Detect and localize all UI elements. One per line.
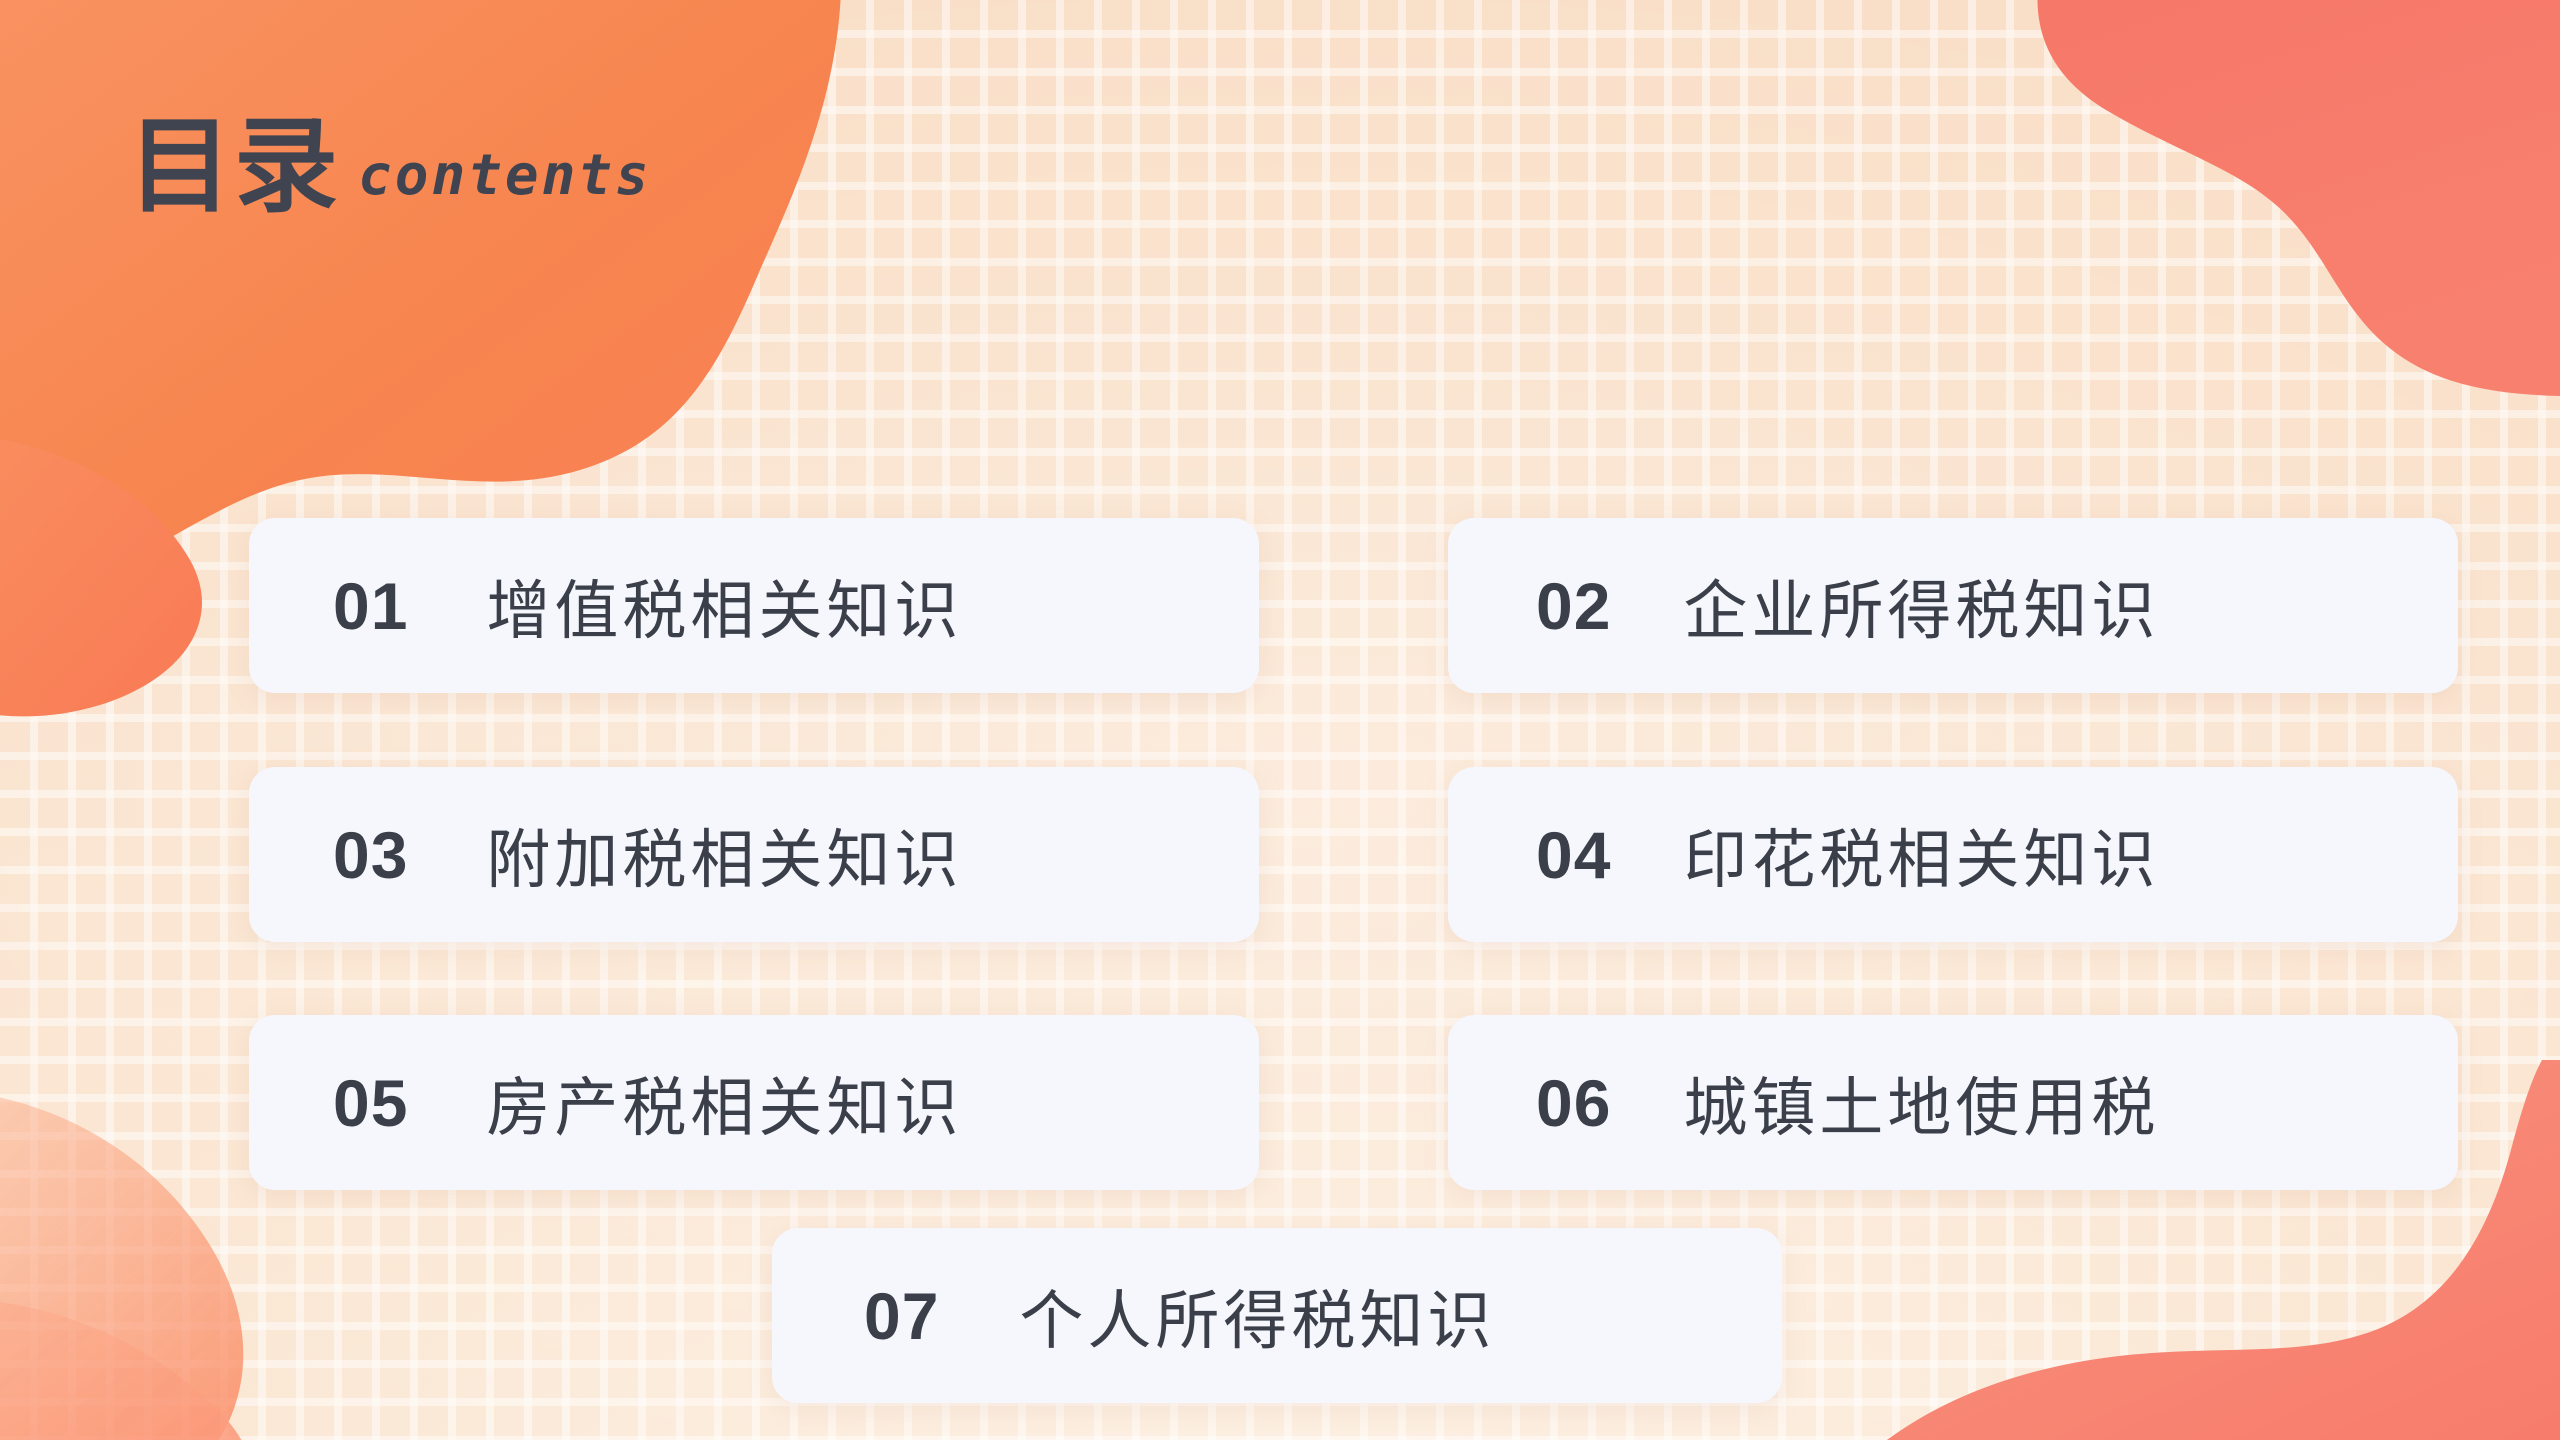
contents-item-label: 城镇土地使用税 xyxy=(1683,1057,2159,1149)
contents-item-label: 印花税相关知识 xyxy=(1683,809,2159,901)
contents-item-01[interactable]: 01 增值税相关知识 xyxy=(249,518,1259,693)
contents-item-label: 房产税相关知识 xyxy=(486,1057,962,1149)
contents-item-label: 增值税相关知识 xyxy=(486,560,962,652)
contents-item-03[interactable]: 03 附加税相关知识 xyxy=(249,767,1259,942)
contents-item-04[interactable]: 04 印花税相关知识 xyxy=(1448,767,2458,942)
contents-item-number: 04 xyxy=(1536,817,1611,893)
contents-item-number: 01 xyxy=(333,568,408,644)
contents-item-number: 06 xyxy=(1536,1065,1611,1141)
contents-item-02[interactable]: 02 企业所得税知识 xyxy=(1448,518,2458,693)
contents-item-label: 个人所得税知识 xyxy=(1019,1270,1495,1362)
contents-item-number: 02 xyxy=(1536,568,1611,644)
page-title: 目录 contents xyxy=(128,120,652,216)
page-title-en: contents xyxy=(358,148,652,204)
contents-item-label: 附加税相关知识 xyxy=(486,809,962,901)
contents-item-07[interactable]: 07 个人所得税知识 xyxy=(772,1228,1782,1403)
contents-item-label: 企业所得税知识 xyxy=(1683,560,2159,652)
contents-item-number: 07 xyxy=(864,1278,939,1354)
page-title-cn: 目录 xyxy=(128,120,340,216)
contents-slide: 目录 contents 01 增值税相关知识 02 企业所得税知识 03 附加税… xyxy=(0,0,2560,1440)
contents-item-06[interactable]: 06 城镇土地使用税 xyxy=(1448,1015,2458,1190)
contents-card-grid: 01 增值税相关知识 02 企业所得税知识 03 附加税相关知识 04 印花税相… xyxy=(0,0,2560,1440)
contents-item-number: 03 xyxy=(333,817,408,893)
contents-item-05[interactable]: 05 房产税相关知识 xyxy=(249,1015,1259,1190)
contents-item-number: 05 xyxy=(333,1065,408,1141)
